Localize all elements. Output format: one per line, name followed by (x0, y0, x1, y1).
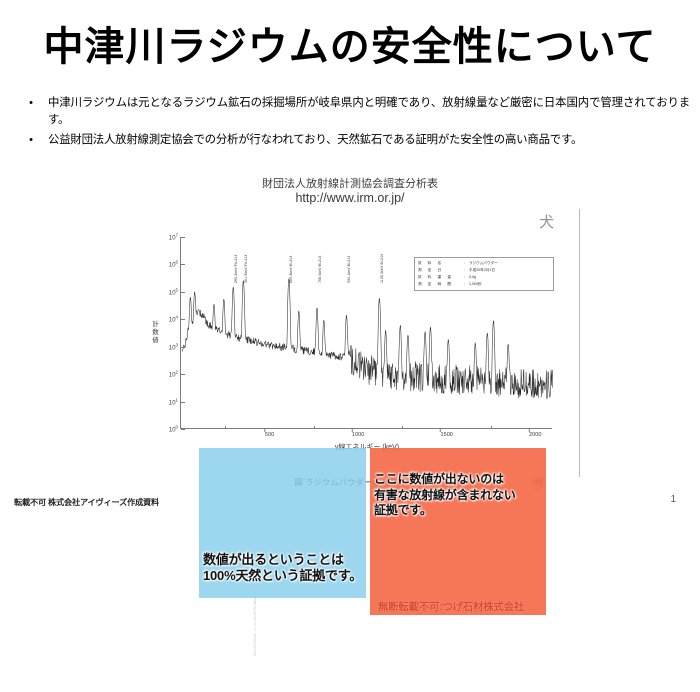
x-axis-tick-label: 1000 (352, 432, 364, 438)
y-axis-tick-mark (181, 347, 185, 348)
x-axis-tick-label: 2000 (529, 432, 541, 438)
scan-artifact-text-block: 測定結果は別紙の通りです。放射線計測協会 (216, 592, 256, 692)
x-axis-minor-tick (225, 426, 226, 429)
x-axis-tick-mark (440, 428, 441, 432)
spectrum-figure: 財団法人放射線計測協会調査分析表 http://www.irm.or.jp/ 試… (0, 175, 700, 495)
x-axis-minor-tick (314, 426, 315, 429)
list-item: • 公益財団法人放射線測定協会での分析が行なわれており、天然鉱石である証明がた安… (14, 132, 690, 149)
callout-red-text: ここに数値が出ないのは 有害な放射線が含まれない 証拠です。 (374, 472, 516, 519)
y-axis-tick-label: 103 (169, 342, 178, 351)
spectrum-line (182, 279, 552, 399)
sheet-divider (579, 209, 580, 477)
y-axis-tick-label: 100 (169, 425, 178, 434)
bullet-marker: • (14, 95, 48, 112)
footer-note: 転載不可 株式会社アイヴィーズ作成資料 (14, 496, 159, 508)
y-axis-tick-mark (181, 264, 185, 265)
x-axis-tick-mark (351, 428, 352, 432)
y-axis-tick-label: 101 (169, 397, 178, 406)
scan-artifact-glyph-top-icon: 犬 (539, 211, 554, 232)
callout-blue-line-2: 100%天然という証拠です。 (203, 568, 362, 584)
y-axis-tick-label: 107 (169, 233, 178, 242)
y-axis-tick-label: 105 (169, 287, 178, 296)
bullet-marker: • (14, 132, 48, 149)
spectrum-plot: 計数値 γ線エネルギー (keV) 1001011021031041051061… (180, 237, 552, 429)
y-axis-tick-mark (181, 429, 185, 430)
callout-blue-text: 数値が出るということは 100%天然という証拠です。 (203, 552, 362, 584)
bullet-text: 公益財団法人放射線測定協会での分析が行なわれており、天然鉱石である証明がた安全性… (48, 132, 690, 149)
list-item: • 中津川ラジウムは元となるラジウム鉱石の採掘場所が岐阜県内と明確であり、放射線… (14, 95, 690, 129)
y-axis-tick-mark (181, 402, 185, 403)
callout-red-line-2: 有害な放射線が含まれない (374, 488, 516, 504)
bullet-list: • 中津川ラジウムは元となるラジウム鉱石の採掘場所が岐阜県内と明確であり、放射線… (14, 95, 690, 152)
x-axis-tick-mark (264, 428, 265, 432)
page-number: 1 (670, 494, 676, 505)
x-axis-minor-tick (402, 426, 403, 429)
y-axis-tick-label: 104 (169, 315, 178, 324)
y-axis-tick-mark (181, 237, 185, 238)
x-axis-tick-label: 500 (265, 432, 274, 438)
callout-blue-line-1: 数値が出るということは (203, 552, 362, 568)
bullet-text: 中津川ラジウムは元となるラジウム鉱石の採掘場所が岐阜県内と明確であり、放射線量な… (48, 95, 690, 129)
y-axis-tick-mark (181, 292, 185, 293)
figure-source-url: http://www.irm.or.jp/ (0, 191, 700, 206)
callout-red-line-1: ここに数値が出ないのは (374, 472, 516, 488)
figure-source-title: 財団法人放射線計測協会調査分析表 (0, 177, 700, 191)
watermark-text: 無断転載不可:つげ石材株式会社 (378, 599, 524, 614)
y-axis-tick-label: 106 (169, 260, 178, 269)
y-axis-tick-label: 102 (169, 370, 178, 379)
y-axis-tick-mark (181, 374, 185, 375)
x-axis-tick-label: 1500 (440, 432, 452, 438)
page-title: 中津川ラジウムの安全性について (0, 26, 700, 68)
y-axis-tick-mark (181, 319, 185, 320)
x-axis-tick-mark (529, 428, 530, 432)
spectrum-curve (181, 237, 553, 429)
x-axis-minor-tick (491, 426, 492, 429)
callout-red-line-3: 証拠です。 (374, 503, 516, 519)
scanned-report-sheet: 試 料 名 : ラジウムパウダー 測 定 日 : 平成20年2月1日 試 料 重… (92, 209, 584, 477)
y-axis-label: 計数値 (151, 321, 160, 345)
